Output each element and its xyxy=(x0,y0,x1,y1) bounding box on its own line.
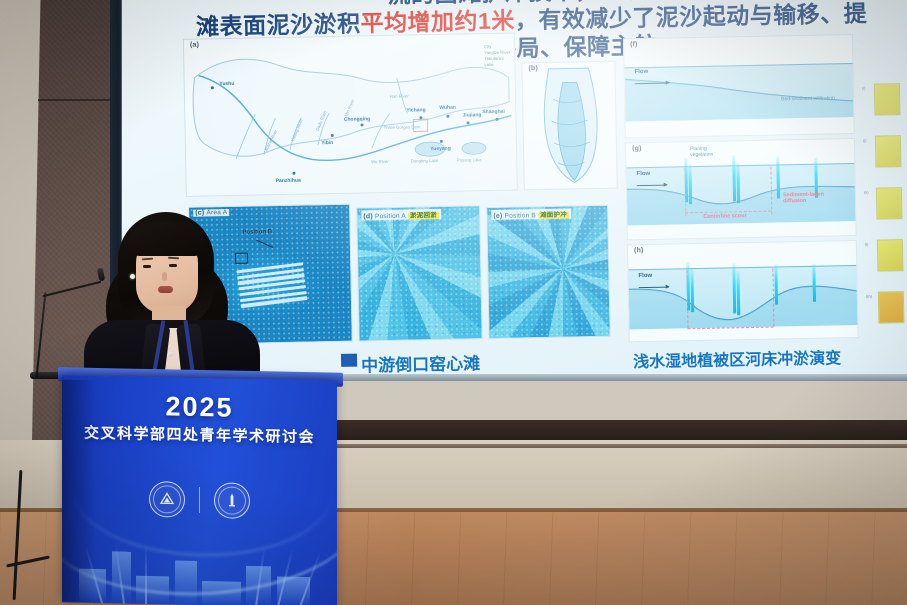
slide-figure-panels: Yushu Panzhihua Yibin Chongqing Yichang … xyxy=(183,17,902,381)
panel-d-highlight-badge: 淤泥回淤 xyxy=(408,212,439,220)
map-city-label: Panzhihua xyxy=(276,178,301,184)
presentation-photo-scene: 流的固滩护岸技术，游洲滩守护工程 滩表面泥沙淤积平均增加约1米，有效减少了泥沙起… xyxy=(0,0,907,605)
caption-left-chip xyxy=(341,354,357,367)
panel-g-label: (g) xyxy=(630,145,644,152)
map-legend: City Yangtze River Tributaries Lake xyxy=(484,44,510,68)
centerline-scour-label: Centerline scour xyxy=(703,213,747,220)
mini-plot xyxy=(875,135,902,167)
panel-b-planform: (b) xyxy=(521,61,617,191)
map-river-label: Wu River xyxy=(371,159,389,164)
panel-g-vegetation-flow: Flow Planing vegetation Centerline scour… xyxy=(625,138,857,240)
bed-profile-svg xyxy=(624,35,854,137)
panel-d-label: (d) Position A 淤泥回淤 xyxy=(361,209,441,221)
map-city-label: Jiujiang xyxy=(463,112,482,118)
nose xyxy=(162,272,167,281)
eye-right xyxy=(169,264,177,267)
acoustic-panel-seam xyxy=(38,99,114,101)
panel-f-flow-infiltration: Flow Bed-sediment infiltration (f) xyxy=(623,34,855,138)
map-dot-yibin xyxy=(331,134,334,137)
flow-label: Flow xyxy=(635,69,649,75)
planing-vegetation-label: Planing vegetation xyxy=(690,145,730,158)
microphone-base xyxy=(30,372,60,379)
eye-left xyxy=(143,265,151,268)
bed-sediment-infiltration-label: Bed-sediment infiltration xyxy=(781,95,837,102)
panel-e-label: (e) Position B 滩面护冲 xyxy=(491,208,571,220)
map-city-label: Yichang xyxy=(406,107,425,113)
closeup-texture xyxy=(487,206,609,338)
panel-e-highlight-badge: 滩面护冲 xyxy=(538,211,569,219)
mountain-emblem-glyph xyxy=(157,489,177,509)
podium-skyline-graphic xyxy=(62,506,337,605)
panel-b-label: (b) xyxy=(526,65,540,72)
closeup-texture xyxy=(357,206,482,340)
jacket-button xyxy=(168,352,173,357)
earring xyxy=(130,274,135,279)
podium-year: 2025 xyxy=(62,389,337,425)
podium-side-shadow xyxy=(62,380,96,603)
panel-e-position-b: (e) Position B 滩面护冲 xyxy=(486,205,611,339)
planform-svg xyxy=(522,62,616,190)
map-dot-panzhihua xyxy=(292,172,295,175)
panel-h-label: (h) xyxy=(632,247,646,254)
podium-banner: 2025 交叉科学部四处青年学术研讨会 xyxy=(62,375,337,605)
map-dot-wuhan xyxy=(446,114,449,117)
flow-label: Flow xyxy=(638,273,652,279)
map-city-label: Shanghai xyxy=(482,109,505,115)
flow-label: Flow xyxy=(636,171,650,177)
tower-emblem-glyph xyxy=(222,490,242,510)
caption-right: 浅水湿地植被区河床冲淤演变 xyxy=(633,344,841,372)
map-city-label: Yibin xyxy=(321,140,333,146)
map-city-label: Yushu xyxy=(219,81,234,87)
map-legend-item: Lake xyxy=(484,62,510,68)
map-river-label: Dongting Lake xyxy=(411,158,439,164)
caption-left: 中游倒口窑心滩 xyxy=(361,349,480,376)
mini-plot-column: (i) (j) (k) (l) (m) xyxy=(862,73,903,334)
hair-fringe xyxy=(128,222,206,256)
panel-f-label: (f) xyxy=(628,41,640,48)
map-river-label: Poyang Lake xyxy=(457,157,482,162)
panel-d-position-a: (d) Position A 淤泥回淤 xyxy=(356,205,483,341)
sediment-diffusion-label: Sediment-laden diffusion xyxy=(783,191,833,204)
mini-plot xyxy=(874,83,901,115)
mini-plot xyxy=(878,291,905,323)
mouth xyxy=(158,286,173,293)
panel-a-label: (a) xyxy=(188,42,201,49)
bed-profile-svg xyxy=(626,139,856,239)
map-city-label: Yueyang xyxy=(430,145,451,151)
map-city-label: Wuhan xyxy=(439,105,456,111)
map-dot-yueyang xyxy=(440,139,443,142)
stage-wall-trim xyxy=(337,444,907,448)
mini-plot xyxy=(877,239,904,271)
map-river-label: Han River xyxy=(390,93,409,98)
mini-plot xyxy=(876,187,903,219)
map-river-label: Three Gorges Dam xyxy=(384,124,421,130)
panel-a-basin-map: Yushu Panzhihua Yibin Chongqing Yichang … xyxy=(183,32,518,196)
panel-h-scour-evolution: Flow (h) xyxy=(627,240,859,342)
